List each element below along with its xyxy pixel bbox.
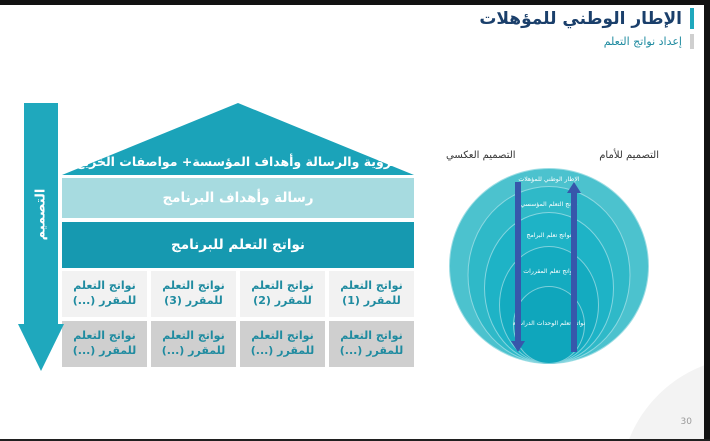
slide-frame-right bbox=[704, 0, 710, 441]
backward-design-arrow-down bbox=[511, 182, 525, 352]
ellipse-label-3: نواتج تعلم البرامج bbox=[449, 232, 649, 240]
roof-label: الرؤية والرسالة وأهداف المؤسسة+ مواصفات … bbox=[62, 154, 414, 171]
title-accent-bar bbox=[690, 8, 694, 29]
arrow-head-down-icon bbox=[511, 341, 525, 352]
slide-canvas: الإطار الوطني للمؤهلات إعداد نواتج التعل… bbox=[0, 0, 710, 441]
course-cell: نواتج التعلم للمقرر (...) bbox=[329, 321, 414, 367]
course-cell: نواتج التعلم للمقرر (1) bbox=[329, 271, 414, 317]
arrow-bar bbox=[515, 182, 521, 343]
course-outcomes-grid: نواتج التعلم للمقرر (1) نواتج التعلم للم… bbox=[62, 271, 414, 367]
nested-outcomes-circle-diagram: التصميم العكسي التصميم للأمام الإطار الو… bbox=[449, 150, 649, 365]
house-roof: الرؤية والرسالة وأهداف المؤسسة+ مواصفات … bbox=[62, 103, 414, 175]
ellipse-label-1: الإطار الوطني للمؤهلات bbox=[449, 176, 649, 184]
grid-row-bottom: نواتج التعلم للمقرر (...) نواتج التعلم ل… bbox=[62, 321, 414, 367]
arrow-head-down-icon bbox=[18, 324, 64, 371]
label-backward-design: التصميم العكسي bbox=[446, 150, 516, 161]
slide-header: الإطار الوطني للمؤهلات إعداد نواتج التعل… bbox=[479, 8, 694, 49]
band-program-learning-outcomes: نواتج التعلم للبرنامج bbox=[62, 222, 414, 268]
bottom-right-arc-decoration bbox=[620, 357, 710, 441]
header-subtitle-row: إعداد نواتج التعلم bbox=[479, 34, 694, 49]
design-arrow-label-wrap: التصميم bbox=[18, 103, 64, 325]
course-cell: نواتج التعلم للمقرر (...) bbox=[62, 321, 147, 367]
design-direction-arrow: التصميم bbox=[18, 103, 64, 371]
arrow-bar bbox=[571, 191, 577, 352]
design-arrow-label: التصميم bbox=[33, 188, 48, 240]
forward-design-arrow-up bbox=[567, 182, 581, 352]
page-title: الإطار الوطني للمؤهلات bbox=[479, 9, 682, 29]
ellipse-label-4: نواتج تعلم المقررات bbox=[449, 268, 649, 276]
course-cell: نواتج التعلم للمقرر (...) bbox=[151, 321, 236, 367]
course-cell: نواتج التعلم للمقرر (2) bbox=[240, 271, 325, 317]
page-number: 30 bbox=[681, 417, 692, 427]
label-forward-design: التصميم للأمام bbox=[599, 150, 659, 161]
subtitle-accent-bar bbox=[690, 34, 694, 49]
course-cell: نواتج التعلم للمقرر (...) bbox=[240, 321, 325, 367]
grid-row-top: نواتج التعلم للمقرر (1) نواتج التعلم للم… bbox=[62, 271, 414, 317]
course-cell: نواتج التعلم للمقرر (...) bbox=[62, 271, 147, 317]
header-title-row: الإطار الوطني للمؤهلات bbox=[479, 8, 694, 29]
learning-outcomes-house: الرؤية والرسالة وأهداف المؤسسة+ مواصفات … bbox=[62, 103, 414, 367]
page-subtitle: إعداد نواتج التعلم bbox=[604, 35, 682, 48]
band-program-mission: رسالة وأهداف البرنامج bbox=[62, 178, 414, 218]
circle-stage: الإطار الوطني للمؤهلات نواتج التعلم المؤ… bbox=[449, 168, 649, 364]
slide-frame-top bbox=[0, 0, 710, 5]
ellipse-label-2: نواتج التعلم المؤسسي bbox=[449, 201, 649, 209]
ellipse-label-5: نواتج تعلم الوحدات الدراسية bbox=[449, 320, 649, 328]
course-cell: نواتج التعلم للمقرر (3) bbox=[151, 271, 236, 317]
top-left-arc-inner bbox=[0, 0, 92, 74]
